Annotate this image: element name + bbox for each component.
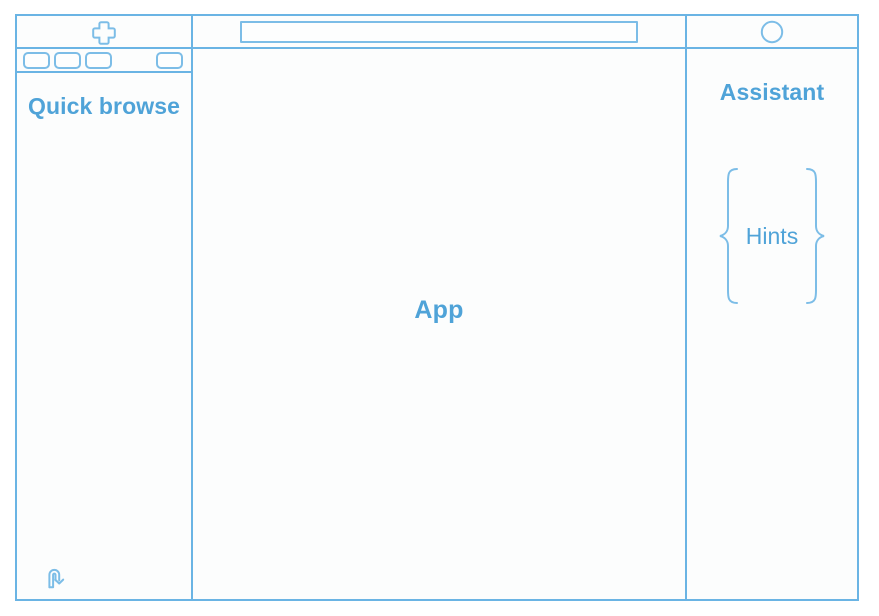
- plus-icon[interactable]: [91, 19, 117, 45]
- uturn-arrow-icon[interactable]: [41, 563, 71, 593]
- address-input[interactable]: [240, 21, 638, 43]
- sidebar-tabbar: [17, 49, 191, 73]
- brace-right-icon: [802, 166, 828, 306]
- tab-chip-3[interactable]: [85, 52, 112, 69]
- tab-chip-1[interactable]: [23, 52, 50, 69]
- wireframe-window: Quick browse App Assistant: [15, 14, 859, 601]
- sidebar-title: Quick browse: [28, 91, 180, 121]
- assistant-title: Assistant: [720, 79, 824, 106]
- header-center-zone: [193, 16, 685, 47]
- hints-block: Hints: [687, 166, 857, 306]
- hints-label: Hints: [742, 223, 802, 250]
- header-left-zone: [17, 16, 193, 47]
- body-row: Quick browse App Assistant: [17, 49, 857, 599]
- tab-chip-4[interactable]: [156, 52, 183, 69]
- header-right-zone: [685, 16, 857, 47]
- header-bar: [17, 16, 857, 49]
- app-title: App: [414, 296, 463, 325]
- circle-avatar-icon[interactable]: [760, 20, 784, 44]
- sidebar-footer: [17, 563, 191, 593]
- assistant-panel: Assistant Hints: [685, 49, 857, 599]
- tab-chip-2[interactable]: [54, 52, 81, 69]
- sidebar-content: Quick browse: [17, 73, 191, 599]
- brace-left-icon: [716, 166, 742, 306]
- main-app-area: App: [193, 49, 685, 599]
- sidebar-quick-browse: Quick browse: [17, 49, 193, 599]
